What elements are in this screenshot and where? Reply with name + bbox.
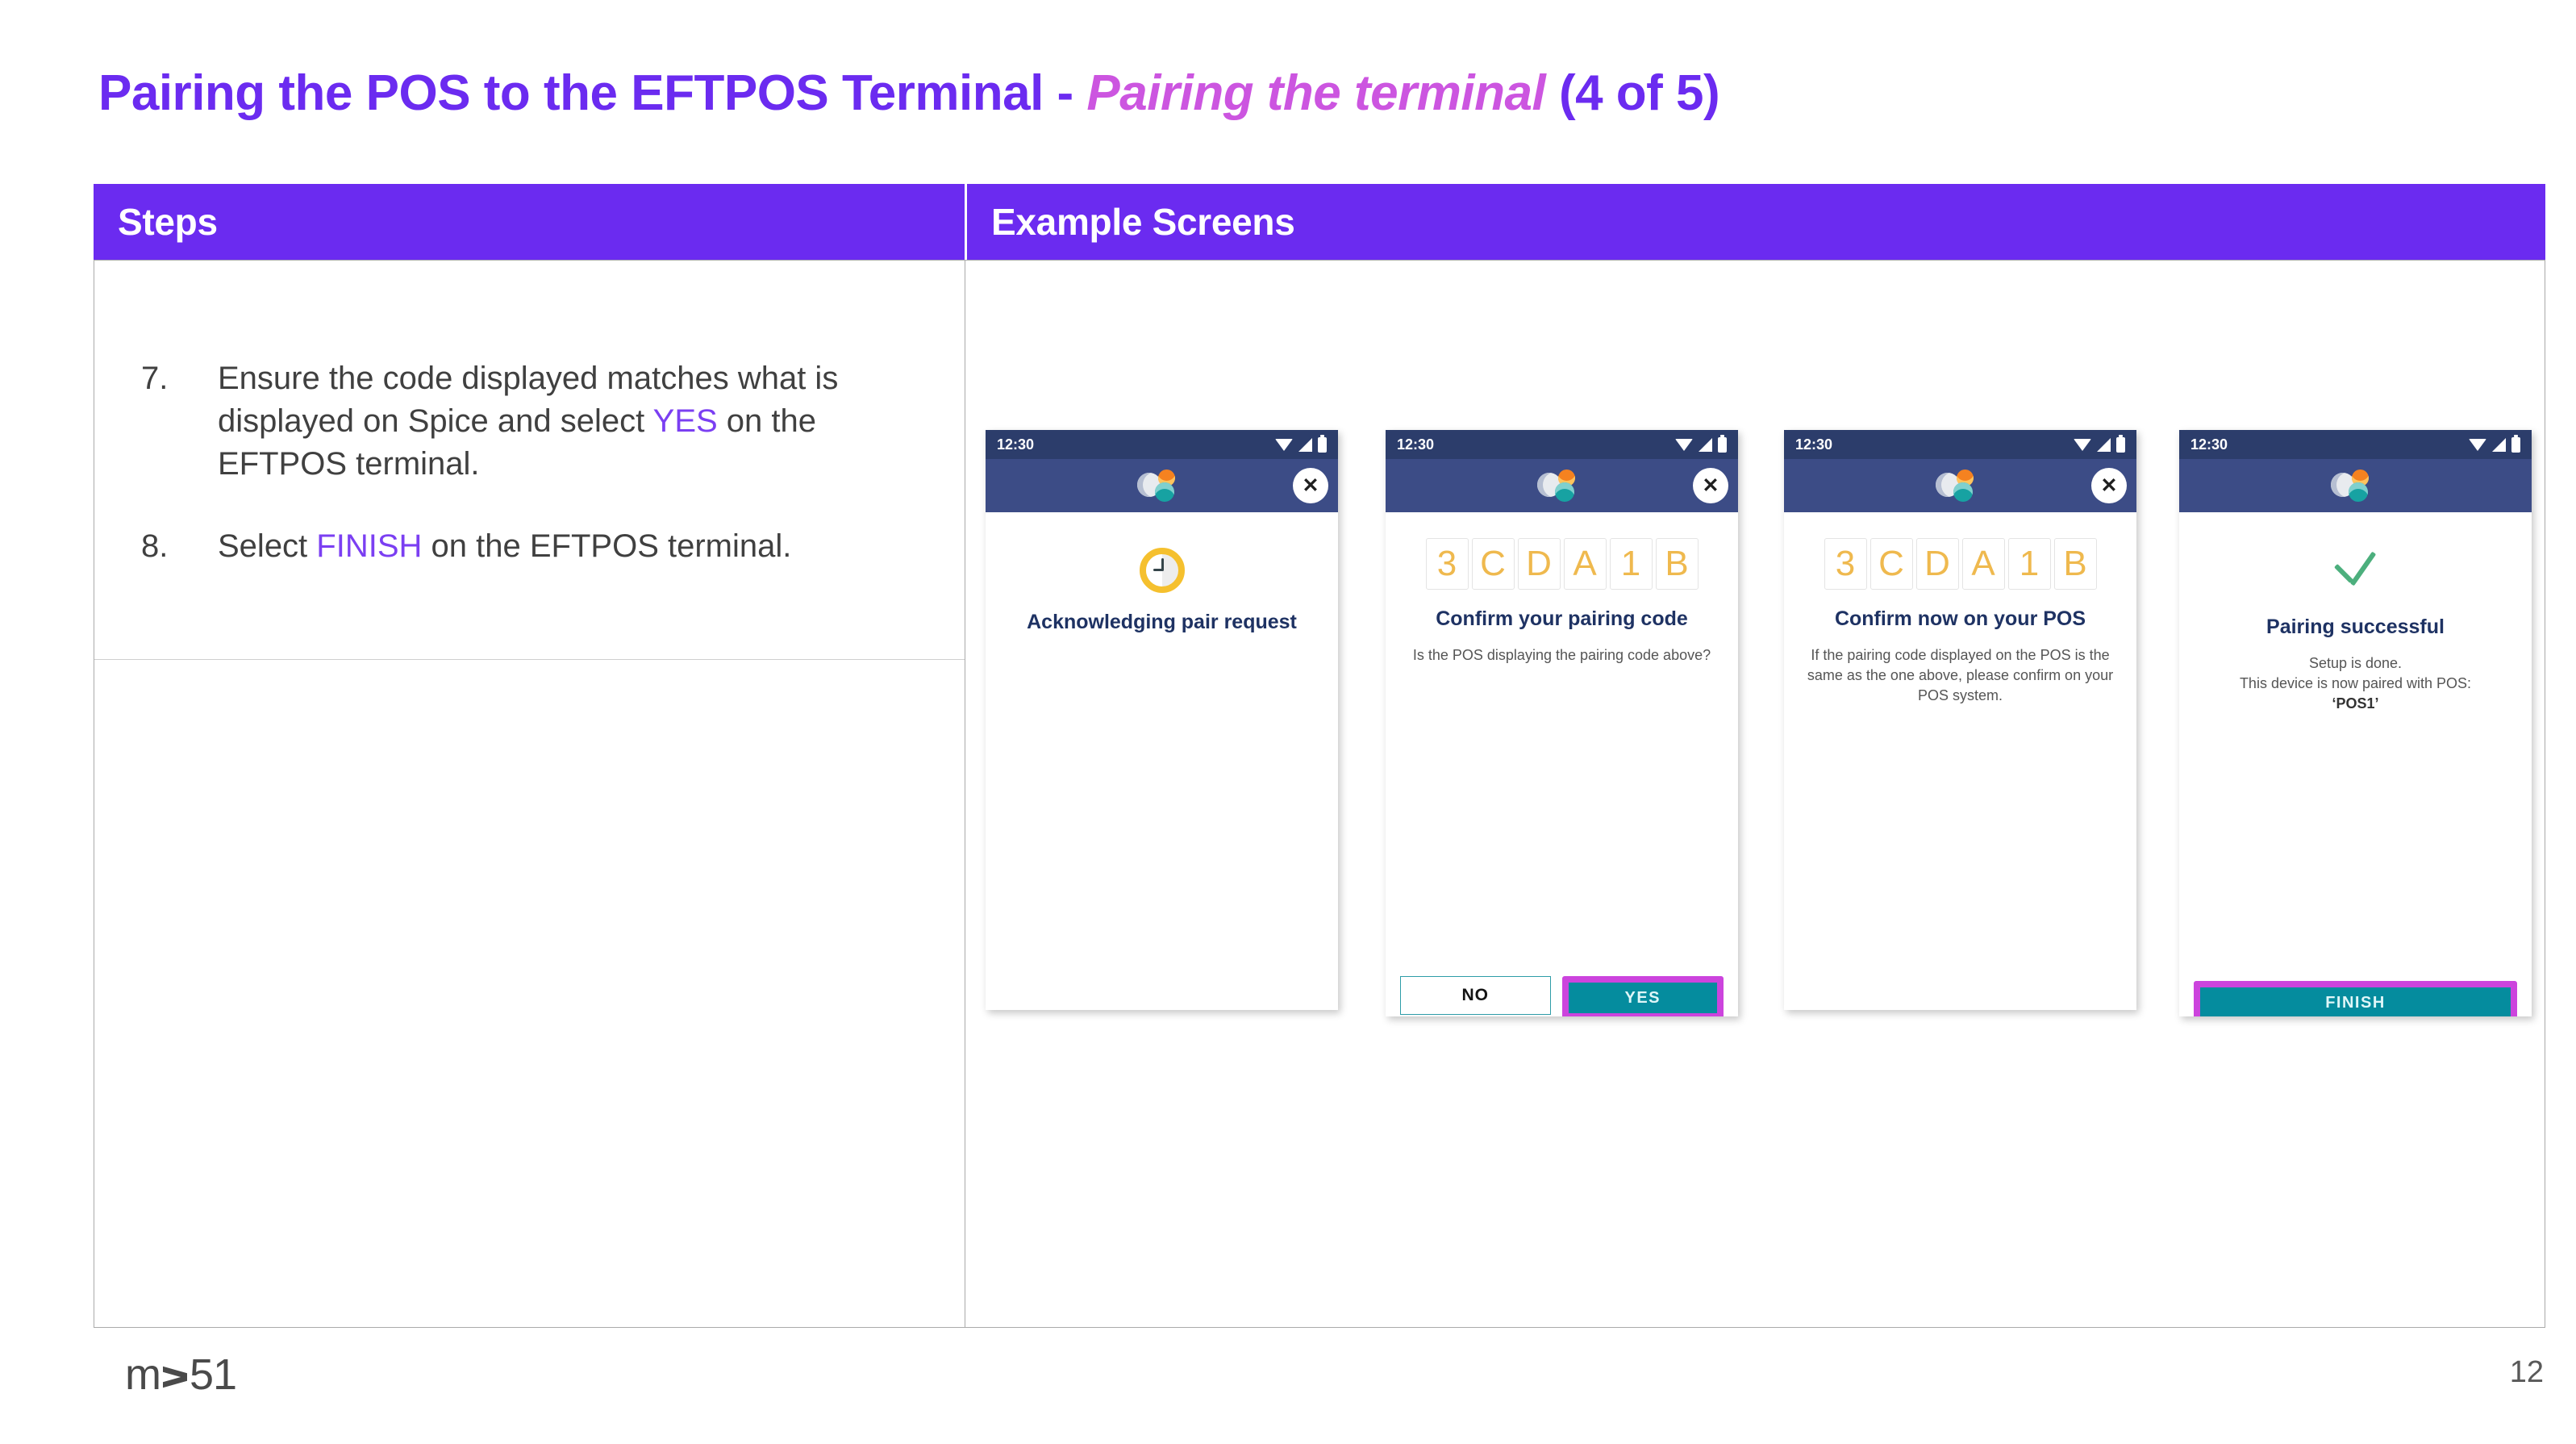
pairing-code-tile: C xyxy=(1472,538,1515,590)
phone-status-bar: 12:30 xyxy=(2179,430,2532,459)
status-bar-clock: 12:30 xyxy=(997,436,1034,453)
yes-button[interactable]: YES xyxy=(1569,983,1718,1013)
phone-subtitle-line: Setup is done. xyxy=(2194,653,2517,674)
battery-icon xyxy=(2116,437,2125,453)
brand-dots-icon xyxy=(1936,470,1986,502)
close-icon[interactable]: ✕ xyxy=(1693,468,1728,503)
pairing-code-tile: 1 xyxy=(2008,538,2051,590)
clock-icon xyxy=(1140,548,1185,593)
phone-screen-body: 3CDA1BConfirm your pairing codeIs the PO… xyxy=(1386,538,1738,1016)
example-screens-group: 12:30✕Acknowledging pair request12:30✕3C… xyxy=(0,0,2576,1444)
wifi-icon xyxy=(2469,439,2486,451)
phone-status-bar: 12:30 xyxy=(986,430,1338,459)
mx51-logo: m 51 xyxy=(125,1350,236,1400)
phone-mockup-phone-1: 12:30✕Acknowledging pair request xyxy=(986,430,1338,1010)
phone-screen-subtitle: Is the POS displaying the pairing code a… xyxy=(1400,645,1724,666)
phone-status-bar: 12:30 xyxy=(1386,430,1738,459)
phone-button-row: FINISH xyxy=(2194,981,2517,1016)
phone-screen-title: Confirm your pairing code xyxy=(1400,606,1724,632)
pairing-code-tile: 3 xyxy=(1426,538,1469,590)
pairing-code-row: 3CDA1B xyxy=(1799,538,2122,590)
signal-icon xyxy=(1298,438,1312,452)
paired-pos-name: ‘POS1’ xyxy=(2194,694,2517,714)
phone-app-bar: ✕ xyxy=(1386,459,1738,512)
battery-icon xyxy=(1718,437,1727,453)
phone-screen-subtitle: If the pairing code displayed on the POS… xyxy=(1799,645,2122,705)
finish-button[interactable]: FINISH xyxy=(2200,987,2511,1016)
phone-screen-body: 3CDA1BConfirm now on your POSIf the pair… xyxy=(1784,538,2136,1010)
status-bar-clock: 12:30 xyxy=(1397,436,1434,453)
status-bar-icons xyxy=(2469,437,2520,453)
pairing-code-row: 3CDA1B xyxy=(1400,538,1724,590)
logo-x-glyph-icon xyxy=(161,1365,189,1389)
close-icon[interactable]: ✕ xyxy=(1293,468,1328,503)
highlight-outline: YES xyxy=(1562,976,1724,1016)
status-bar-icons xyxy=(2074,437,2125,453)
no-button[interactable]: NO xyxy=(1400,976,1551,1015)
brand-dots-icon xyxy=(1537,470,1587,502)
status-bar-clock: 12:30 xyxy=(2190,436,2228,453)
phone-screen-subtitle: Setup is done.This device is now paired … xyxy=(2194,653,2517,713)
brand-dot-teal-icon xyxy=(1953,482,1973,502)
highlight-outline: FINISH xyxy=(2194,981,2517,1016)
pairing-code-tile: D xyxy=(1916,538,1959,590)
wifi-icon xyxy=(1275,439,1293,451)
phone-button-row: NOYES xyxy=(1400,976,1724,1016)
phone-status-bar: 12:30 xyxy=(1784,430,2136,459)
checkmark-icon xyxy=(2328,543,2383,598)
signal-icon xyxy=(2097,438,2111,452)
pairing-code-tile: 1 xyxy=(1610,538,1653,590)
brand-dot-teal-icon xyxy=(1555,482,1574,502)
phone-screen-title: Pairing successful xyxy=(2194,614,2517,640)
page-number: 12 xyxy=(2510,1355,2544,1390)
status-bar-icons xyxy=(1275,437,1327,453)
phone-mockup-phone-2: 12:30✕3CDA1BConfirm your pairing codeIs … xyxy=(1386,430,1738,1016)
phone-app-bar: ✕ xyxy=(1784,459,2136,512)
status-bar-clock: 12:30 xyxy=(1795,436,1832,453)
phone-screen-title: Confirm now on your POS xyxy=(1799,606,2122,632)
wifi-icon xyxy=(1675,439,1693,451)
pairing-code-tile: 3 xyxy=(1824,538,1867,590)
status-bar-icons xyxy=(1675,437,1727,453)
brand-dot-teal-icon xyxy=(2349,482,2368,502)
brand-dots-icon xyxy=(2331,470,2381,502)
logo-text-after: 51 xyxy=(190,1350,236,1400)
phone-screen-body: Acknowledging pair request xyxy=(986,548,1338,1010)
brand-dot-teal-icon xyxy=(1155,482,1174,502)
phone-app-bar xyxy=(2179,459,2532,512)
pairing-code-tile: A xyxy=(1962,538,2005,590)
close-icon[interactable]: ✕ xyxy=(2091,468,2127,503)
battery-icon xyxy=(1318,437,1327,453)
pairing-code-tile: B xyxy=(2054,538,2097,590)
phone-screen-title: Acknowledging pair request xyxy=(1000,609,1323,635)
phone-app-bar: ✕ xyxy=(986,459,1338,512)
phone-screen-body: Pairing successfulSetup is done.This dev… xyxy=(2179,543,2532,1016)
phone-subtitle-line: This device is now paired with POS: xyxy=(2194,674,2517,694)
signal-icon xyxy=(1699,438,1712,452)
phone-mockup-phone-3: 12:30✕3CDA1BConfirm now on your POSIf th… xyxy=(1784,430,2136,1010)
pairing-code-tile: D xyxy=(1518,538,1561,590)
battery-icon xyxy=(2511,437,2520,453)
pairing-code-tile: C xyxy=(1870,538,1913,590)
phone-mockup-phone-4: 12:30Pairing successfulSetup is done.Thi… xyxy=(2179,430,2532,1016)
clock-minute-hand-icon xyxy=(1153,569,1163,571)
wifi-icon xyxy=(2074,439,2091,451)
signal-icon xyxy=(2492,438,2506,452)
pairing-code-tile: A xyxy=(1564,538,1607,590)
pairing-code-tile: B xyxy=(1656,538,1699,590)
brand-dots-icon xyxy=(1137,470,1187,502)
logo-text-before: m xyxy=(125,1350,160,1400)
